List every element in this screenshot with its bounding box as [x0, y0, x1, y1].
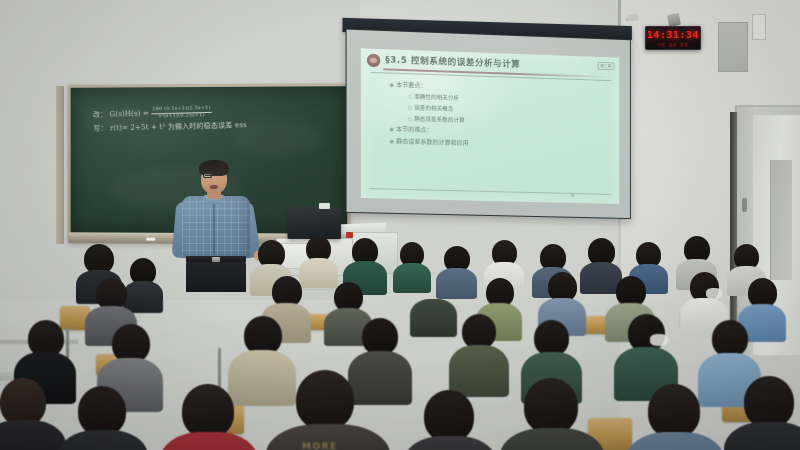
university-logo-icon: [367, 54, 380, 68]
bullet-text-0: 本节要点：: [396, 82, 426, 90]
student-audience: MORE THAN: [0, 228, 800, 450]
slide-bullet-list: ◆本节要点： ◇准确性的相关分析 ◇误差的相关概念 ◇静态误差系数的计算 ◆本节…: [389, 80, 609, 154]
bullet-text-3: 静态误差系数的计算: [414, 116, 465, 124]
bullet-marker-3: ◇: [408, 116, 412, 122]
chalk-prefix-2: 写：: [93, 124, 107, 132]
clock-time-display: 14:31:34: [646, 30, 700, 41]
bullet-text-4: 本节的难点：: [396, 127, 432, 135]
projector-screen: §3.5 控制系统的误差分析与计算 第三章 ◆本节要点： ◇准确性的相关分析 ◇…: [346, 29, 631, 220]
bullet-marker-1: ◇: [408, 94, 412, 100]
bullet-marker-0: ◆: [389, 82, 394, 89]
bullet-marker-4: ◆: [389, 126, 394, 133]
jacket-brand-text: MORE THAN: [302, 442, 338, 450]
chalk-writing: 改： G(s)H(s) = 160 (0.1s+1)(2.5s+1) s²(s+…: [93, 103, 323, 134]
bullet-text-1: 准确性的相关分析: [414, 94, 459, 101]
projected-slide: §3.5 控制系统的误差分析与计算 第三章 ◆本节要点： ◇准确性的相关分析 ◇…: [361, 48, 619, 204]
lecture-hall-photo: 改： G(s)H(s) = 160 (0.1s+1)(2.5s+1) s²(s+…: [0, 0, 800, 450]
clock-mount-bracket: [667, 13, 681, 27]
bullet-text-2: 误差的相关概念: [414, 105, 453, 112]
face-mask: [706, 288, 722, 299]
teacher-glasses-icon: [203, 173, 225, 178]
slide-chapter-badge: 第三章: [597, 62, 614, 71]
blackboard-left-edge: [56, 86, 64, 244]
monitor-top-tab: [319, 203, 330, 209]
chalk-text-2: r(t)= 2+5t + t² 为输入时的稳态误差 ess: [110, 121, 247, 132]
bullet-text-5: 静态误差系数的计算和应用: [396, 138, 469, 147]
bullet-marker-2: ◇: [408, 105, 412, 111]
wall-notice-sheet: [752, 14, 766, 40]
chalk-fraction: 160 (0.1s+1)(2.5s+1) s²(s+1)(0.25s+1): [151, 106, 212, 120]
door-handle[interactable]: [742, 198, 747, 212]
jacket-text-line-1: MORE: [302, 442, 338, 450]
teacher-mouth: [210, 185, 218, 189]
slide-page-dot: [571, 194, 574, 197]
bullet-marker-5: ◆: [389, 138, 394, 145]
wall-utility-box: [718, 22, 748, 72]
clock-sub-labels: 日期 温度 湿度: [646, 42, 700, 47]
led-clock: 14:31:34 日期 温度 湿度: [645, 26, 701, 50]
chalk-prefix-1: 改：: [93, 111, 107, 119]
slide-footer-rule: [369, 188, 611, 194]
chalk-denominator: s²(s+1)(0.25s+1): [151, 113, 212, 120]
ceiling-camera-icon: [628, 14, 638, 21]
face-mask: [650, 334, 668, 346]
chalk-expr-1: G(s)H(s) =: [110, 110, 150, 119]
